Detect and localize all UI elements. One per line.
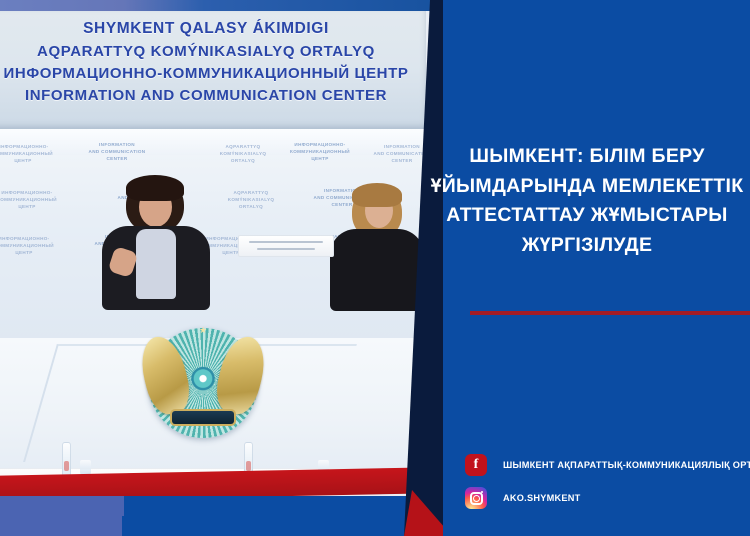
kazakhstan-coat-of-arms-icon: ★ — [148, 328, 258, 438]
instagram-dot — [481, 491, 483, 493]
photo-top-strip — [0, 0, 443, 11]
backdrop-text-en: INFORMATION AND COMMUNICATION CENTER — [62, 141, 172, 162]
backdrop-text-ru: ИНФОРМАЦИОННО- КОММУНИКАЦИОННЫЙ ЦЕНТР — [0, 143, 68, 164]
banner-line-kk-1: SHYMKENT QALASY ÁKIMDIGI — [0, 20, 426, 38]
torso — [330, 229, 424, 311]
photo-bottom-blue-strip — [0, 496, 443, 516]
headline: ШЫМКЕНТ: БІЛІМ БЕРУ ҰЙЫМДАРЫНДА МЕМЛЕКЕТ… — [425, 142, 749, 261]
slide-root: SHYMKENT QALASY ÁKIMDIGI AQPARATTYQ KOMÝ… — [0, 0, 750, 536]
social-row-instagram[interactable]: AKO.SHYMKENT — [465, 487, 750, 509]
headline-line-2: ҰЙЫМДАРЫНДА МЕМЛЕКЕТТІК — [425, 172, 749, 202]
hair-top — [352, 183, 402, 207]
speaker-nameplate — [238, 235, 334, 257]
banner-line-en: INFORMATION AND COMMUNICATION CENTER — [0, 87, 426, 104]
headline-underline — [470, 311, 750, 315]
center-name-banner: SHYMKENT QALASY ÁKIMDIGI AQPARATTYQ KOMÝ… — [0, 11, 426, 129]
instagram-icon[interactable] — [465, 487, 487, 509]
headline-line-4: ЖҮРГІЗІЛУДЕ — [425, 231, 749, 261]
instagram-glyph — [470, 492, 483, 505]
social-row-facebook[interactable]: f ШЫМКЕНТ АҚПАРАТТЫҚ-КОММУНИКАЦИЯЛЫҚ ОРТ… — [465, 454, 750, 476]
emblem-ribbon — [172, 411, 234, 424]
facebook-icon[interactable]: f — [465, 454, 487, 476]
headline-line-1: ШЫМКЕНТ: БІЛІМ БЕРУ — [425, 142, 749, 172]
instagram-handle: AKO.SHYMKENT — [503, 493, 581, 503]
headline-line-3: АТТЕСТАТТАУ ЖҰМЫСТАРЫ — [425, 201, 749, 231]
water-bottle — [62, 442, 71, 476]
blouse — [136, 229, 176, 299]
backdrop-text-ru: ИНФОРМАЦИОННО- КОММУНИКАЦИОННЫЙ ЦЕНТР — [0, 189, 82, 210]
social-links: f ШЫМКЕНТ АҚПАРАТТЫҚ-КОММУНИКАЦИЯЛЫҚ ОРТ… — [465, 454, 750, 520]
title-panel: ШЫМКЕНТ: БІЛІМ БЕРУ ҰЙЫМДАРЫНДА МЕМЛЕКЕТ… — [443, 0, 750, 536]
backdrop-text-kk: AQPARATTYQ KOMÝNIKASIALYQ ORTALYQ — [196, 189, 306, 210]
facebook-handle: ШЫМКЕНТ АҚПАРАТТЫҚ-КОММУНИКАЦИЯЛЫҚ ОРТАЛ… — [503, 460, 750, 470]
banner-line-kk-2: AQPARATTYQ KOMÝNIKASIALYQ ORTALYQ — [0, 43, 426, 60]
banner-line-ru: ИНФОРМАЦИОННО-КОММУНИКАЦИОННЫЙ ЦЕНТР — [0, 65, 426, 82]
backdrop-text-ru: ИНФОРМАЦИОННО- КОММУНИКАЦИОННЫЙ ЦЕНТР — [0, 235, 74, 256]
hair-top — [126, 175, 184, 201]
star-icon: ★ — [199, 325, 207, 336]
press-conference-photo: SHYMKENT QALASY ÁKIMDIGI AQPARATTYQ KOMÝ… — [0, 0, 443, 516]
